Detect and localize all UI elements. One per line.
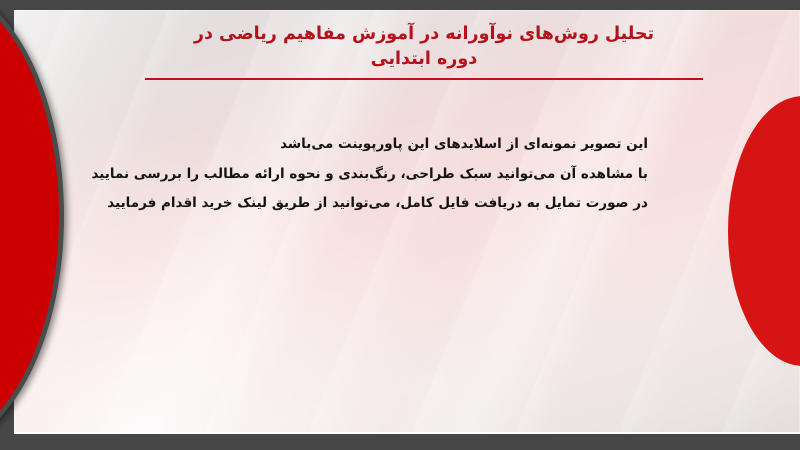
body-line-3: در صورت تمایل به دریافت فایل کامل، می‌تو…	[138, 193, 648, 214]
slide-title-block: تحلیل روش‌های نوآورانه در آموزش مفاهیم ر…	[134, 22, 714, 80]
presentation-slide: تحلیل روش‌های نوآورانه در آموزش مفاهیم ر…	[0, 0, 800, 450]
panel-bottom-edge	[14, 432, 800, 434]
title-line-2: دوره ابتدایی	[371, 49, 477, 69]
slide-body-block: این تصویر نمونه‌ای از اسلایدهای این پاور…	[138, 134, 648, 214]
body-line-2: با مشاهده آن می‌توانید سبک طراحی، رنگ‌بن…	[138, 164, 648, 185]
page-title: تحلیل روش‌های نوآورانه در آموزش مفاهیم ر…	[134, 22, 714, 73]
slide-content-panel: تحلیل روش‌های نوآورانه در آموزش مفاهیم ر…	[14, 10, 800, 434]
title-underline-rule	[145, 78, 703, 80]
body-line-1: این تصویر نمونه‌ای از اسلایدهای این پاور…	[138, 134, 648, 155]
title-line-1: تحلیل روش‌های نوآورانه در آموزش مفاهیم ر…	[194, 24, 654, 44]
right-red-ellipse-decoration	[728, 96, 800, 366]
